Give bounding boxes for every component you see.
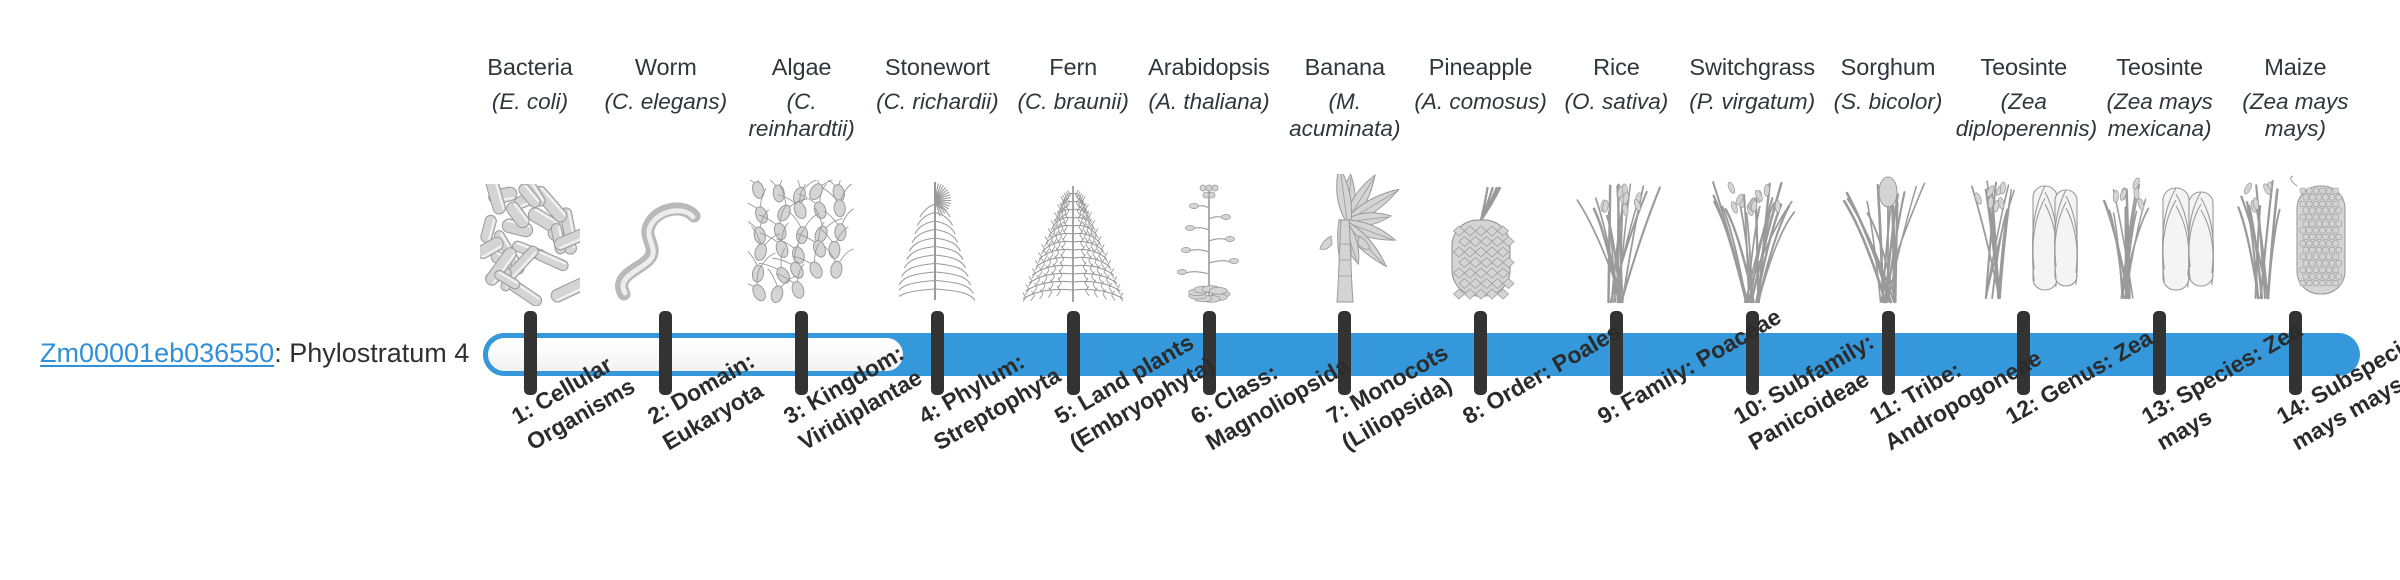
- species-header-6: Banana(M. acuminata): [1277, 52, 1413, 142]
- species-header-8: Rice(O. sativa): [1548, 52, 1684, 115]
- species-scientific-name: (P. virgatum): [1684, 88, 1820, 115]
- species-common-name: Worm: [598, 52, 734, 82]
- species-scientific-name: (M. acuminata): [1277, 88, 1413, 142]
- species-scientific-name: (E. coli): [462, 88, 598, 115]
- species-header-12: Teosinte(Zea mays mexicana): [2092, 52, 2228, 142]
- species-scientific-name: (Zea mays mays): [2227, 88, 2363, 142]
- species-scientific-name: (O. sativa): [1548, 88, 1684, 115]
- species-common-name: Sorghum: [1820, 52, 1956, 82]
- species-header-0: Bacteria(E. coli): [462, 52, 598, 115]
- worm-illustration: [598, 172, 734, 306]
- maize-illustration: [2227, 172, 2363, 306]
- algae-illustration: [734, 172, 870, 306]
- species-common-name: Rice: [1548, 52, 1684, 82]
- species-header-7: Pineapple(A. comosus): [1413, 52, 1549, 115]
- sorghum-illustration: [1820, 172, 1956, 306]
- switchgrass-illustration: [1684, 172, 1820, 306]
- species-common-name: Arabidopsis: [1141, 52, 1277, 82]
- species-scientific-name: (Zea mays mexicana): [2092, 88, 2228, 142]
- pineapple-illustration: [1413, 172, 1549, 306]
- species-header-4: Fern(C. braunii): [1005, 52, 1141, 115]
- species-scientific-name: (C. richardii): [869, 88, 1005, 115]
- fern-illustration: [1005, 172, 1141, 306]
- species-scientific-name: (C. elegans): [598, 88, 734, 115]
- species-header-13: Maize(Zea mays mays): [2227, 52, 2363, 142]
- phylostratigraphy-timeline: Zm00001eb036550: Phylostratum 4 Bacteria…: [0, 0, 2400, 580]
- species-scientific-name: (S. bicolor): [1820, 88, 1956, 115]
- species-header-10: Sorghum(S. bicolor): [1820, 52, 1956, 115]
- species-common-name: Bacteria: [462, 52, 598, 82]
- teosinte-diploperennis-illustration: [1956, 172, 2092, 306]
- gene-accession-link[interactable]: Zm00001eb036550: [40, 338, 274, 368]
- bacteria-illustration: [462, 172, 598, 306]
- species-scientific-name: (C. reinhardtii): [734, 88, 870, 142]
- gene-phylostratum-label: Zm00001eb036550: Phylostratum 4: [40, 336, 469, 370]
- stonewort-illustration: [869, 172, 1005, 306]
- species-common-name: Switchgrass: [1684, 52, 1820, 82]
- species-common-name: Stonewort: [869, 52, 1005, 82]
- rice-illustration: [1548, 172, 1684, 306]
- species-scientific-name: (Zea diploperennis): [1956, 88, 2092, 142]
- species-header-2: Algae(C. reinhardtii): [734, 52, 870, 142]
- species-scientific-name: (C. braunii): [1005, 88, 1141, 115]
- species-header-3: Stonewort(C. richardii): [869, 52, 1005, 115]
- species-header-1: Worm(C. elegans): [598, 52, 734, 115]
- species-common-name: Teosinte: [2092, 52, 2228, 82]
- arabidopsis-illustration: [1141, 172, 1277, 306]
- species-common-name: Fern: [1005, 52, 1141, 82]
- species-common-name: Algae: [734, 52, 870, 82]
- species-common-name: Banana: [1277, 52, 1413, 82]
- species-header-5: Arabidopsis(A. thaliana): [1141, 52, 1277, 115]
- species-common-name: Pineapple: [1413, 52, 1549, 82]
- teosinte-mexicana-illustration: [2092, 172, 2228, 306]
- banana-illustration: [1277, 172, 1413, 306]
- gene-phylostratum-value: Phylostratum 4: [289, 338, 469, 368]
- species-scientific-name: (A. thaliana): [1141, 88, 1277, 115]
- species-common-name: Teosinte: [1956, 52, 2092, 82]
- species-header-11: Teosinte(Zea diploperennis): [1956, 52, 2092, 142]
- stratum-tick-1[interactable]: [524, 311, 537, 395]
- species-header-9: Switchgrass(P. virgatum): [1684, 52, 1820, 115]
- species-scientific-name: (A. comosus): [1413, 88, 1549, 115]
- gene-label-separator: :: [274, 338, 289, 368]
- species-common-name: Maize: [2227, 52, 2363, 82]
